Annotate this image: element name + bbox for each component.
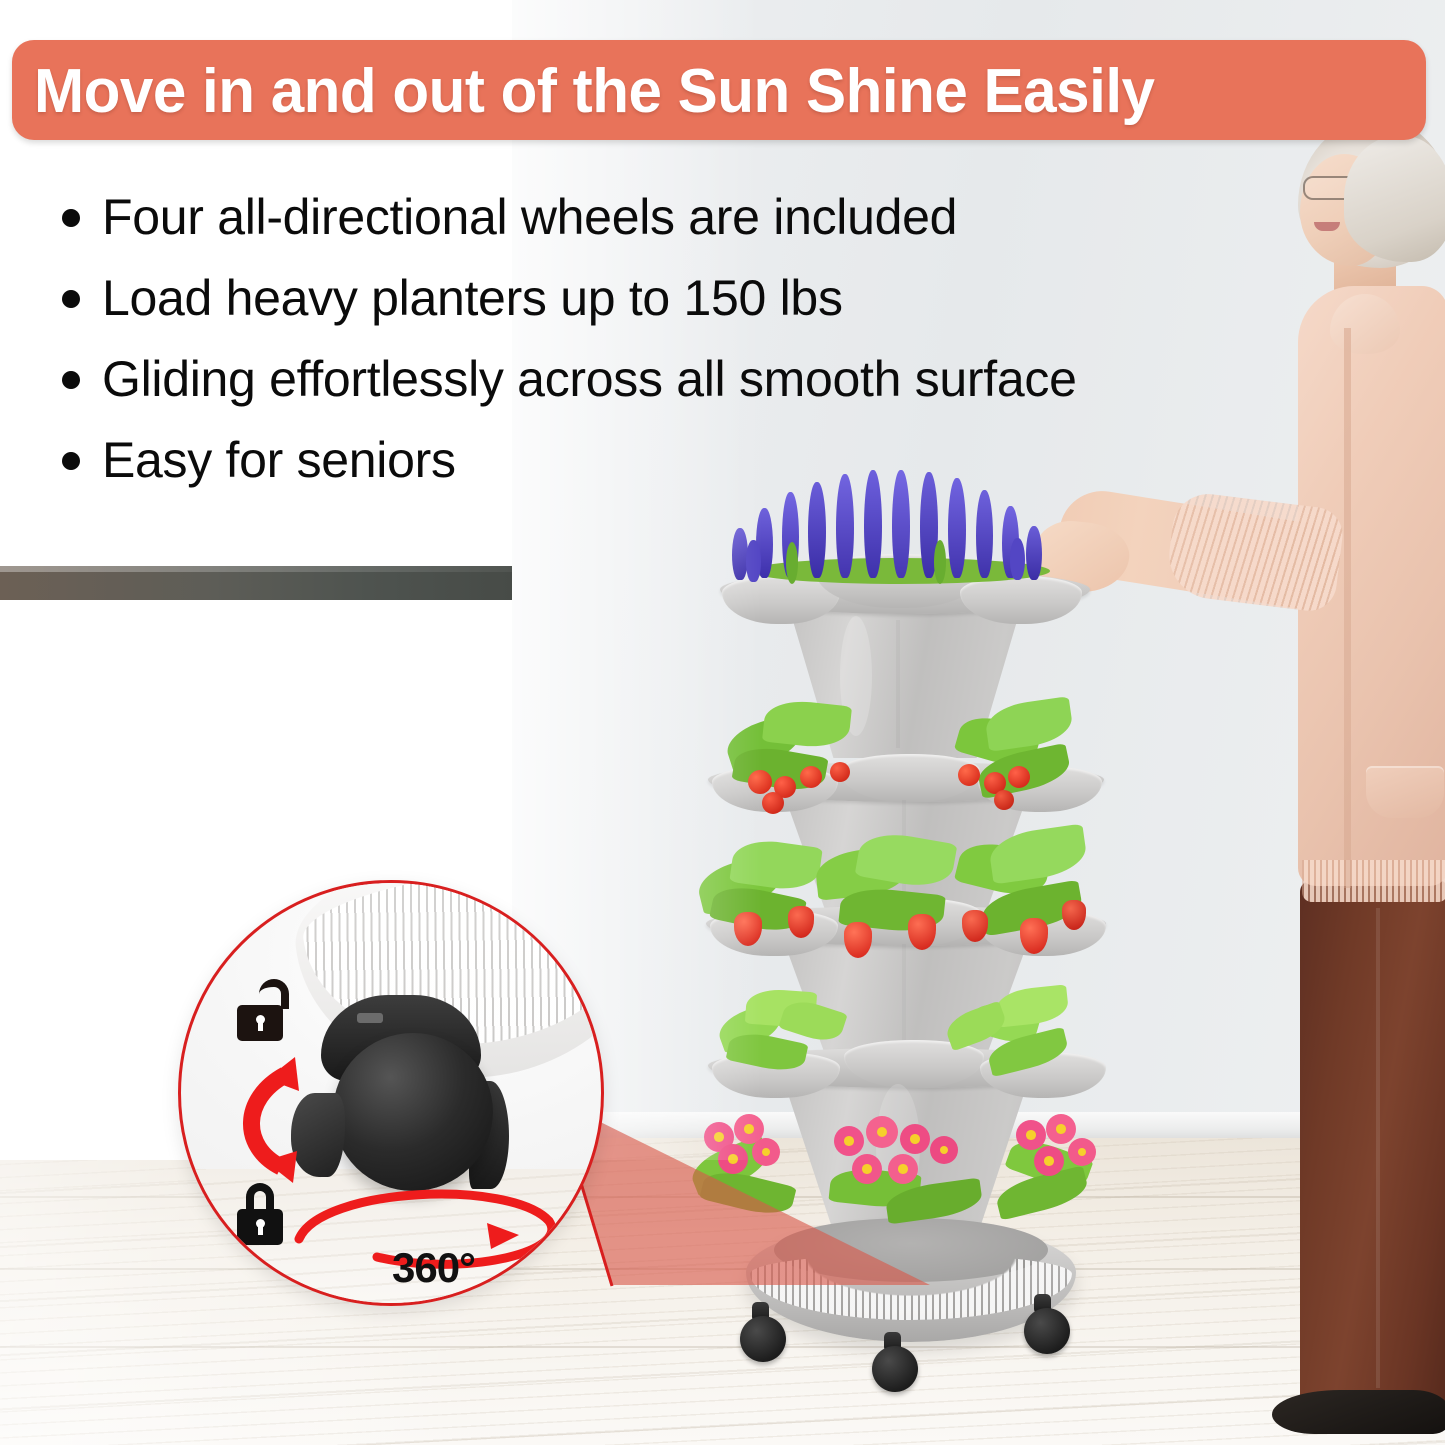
list-item-label: Gliding effortlessly across all smooth s… [102,350,1077,409]
caster-wheel-icon [333,1033,493,1191]
list-item: Gliding effortlessly across all smooth s… [62,350,1432,409]
bullet-dot-icon [62,371,80,389]
bullet-dot-icon [62,209,80,227]
bullet-dot-icon [62,452,80,470]
cardigan-pocket [1366,766,1444,818]
feature-list: Four all-directional wheels are included… [62,188,1432,512]
caster-detail-callout [178,880,604,1306]
list-item: Easy for seniors [62,431,1432,490]
headline-text: Move in and out of the Sun Shine Easily [34,50,1373,132]
caster-wheel [872,1346,918,1392]
list-item-label: Load heavy planters up to 150 lbs [102,269,843,328]
rotation-degree-label: 360° [392,1244,475,1292]
list-item: Load heavy planters up to 150 lbs [62,269,1432,328]
planter-groove [896,620,900,748]
double-arrow-icon [223,1051,313,1187]
cardigan-hem [1302,860,1445,902]
caster-mount-notch [357,1013,383,1023]
caster-wheel [1024,1308,1070,1354]
bullet-dot-icon [62,290,80,308]
caster-wheel [740,1316,786,1362]
shoe [1272,1390,1445,1434]
unlock-icon [237,979,299,1045]
list-item-label: Four all-directional wheels are included [102,188,957,247]
list-item-label: Easy for seniors [102,431,456,490]
trousers [1300,880,1445,1418]
product-infographic: 360° Move in and out of the Sun Shine Ea… [0,0,1445,1445]
trouser-crease [1376,908,1380,1388]
counter-highlight [0,566,512,572]
list-item: Four all-directional wheels are included [62,188,1432,247]
